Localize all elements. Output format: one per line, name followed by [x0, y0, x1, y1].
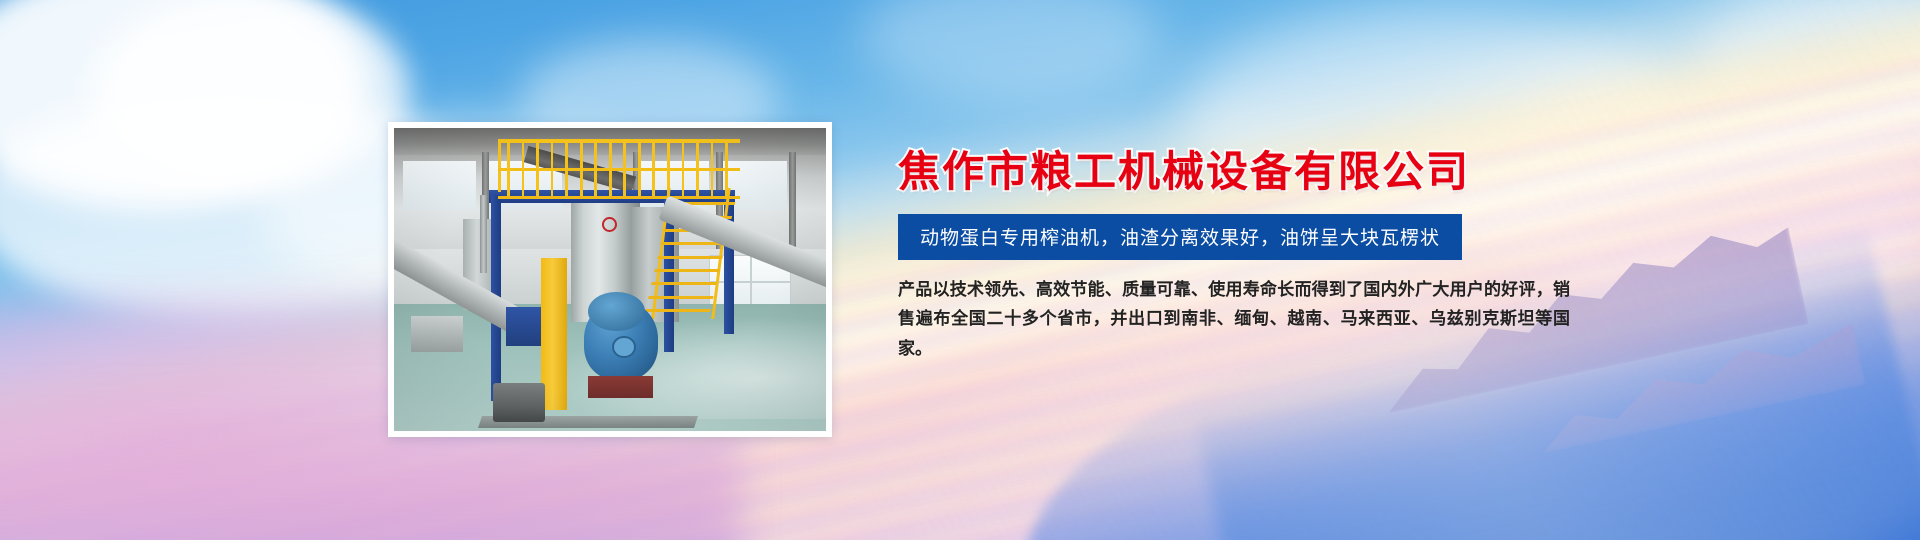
hero-banner: 焦作市粮工机械设备有限公司 动物蛋白专用榨油机，油渣分离效果好，油饼呈大块瓦楞状… — [0, 0, 1920, 540]
photo-vignette — [394, 128, 826, 431]
company-title: 焦作市粮工机械设备有限公司 — [898, 150, 1578, 194]
company-description: 产品以技术领先、高效节能、质量可靠、使用寿命长而得到了国内外广大用户的好评，销售… — [898, 276, 1570, 364]
banner-content: 焦作市粮工机械设备有限公司 动物蛋白专用榨油机，油渣分离效果好，油饼呈大块瓦楞状… — [898, 150, 1578, 364]
product-photo-frame — [388, 122, 832, 437]
slogan-bar: 动物蛋白专用榨油机，油渣分离效果好，油饼呈大块瓦楞状 — [898, 214, 1462, 260]
product-photo — [394, 128, 826, 431]
